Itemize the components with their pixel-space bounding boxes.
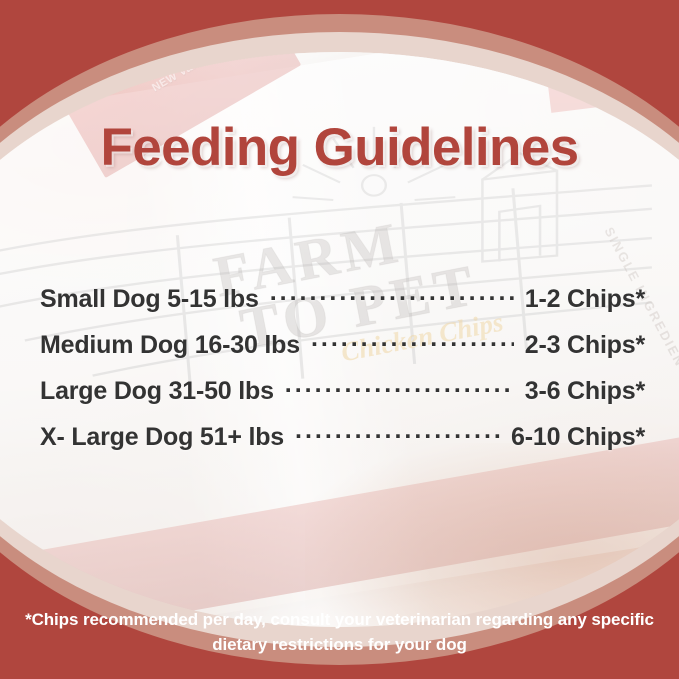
guideline-value: 2-3 Chips*: [525, 331, 645, 360]
guideline-label: Small Dog 5-15 lbs: [40, 285, 259, 314]
guideline-value: 6-10 Chips*: [511, 423, 645, 452]
guideline-value: 3-6 Chips*: [525, 377, 645, 406]
guideline-row-medium: Medium Dog 16-30 lbs 2-3 Chips*: [40, 328, 645, 374]
dot-leader: [295, 420, 500, 445]
guideline-row-large: Large Dog 31-50 lbs 3-6 Chips*: [40, 374, 645, 420]
dot-leader: [285, 374, 514, 399]
dot-leader: [311, 328, 514, 353]
dot-leader: [270, 282, 514, 307]
footer-disclaimer: *Chips recommended per day, consult your…: [17, 608, 663, 657]
feeding-guidelines-list: Small Dog 5-15 lbs 1-2 Chips* Medium Dog…: [40, 282, 645, 466]
guideline-label: Medium Dog 16-30 lbs: [40, 331, 300, 360]
guideline-row-small: Small Dog 5-15 lbs 1-2 Chips*: [40, 282, 645, 328]
guideline-row-xlarge: X- Large Dog 51+ lbs 6-10 Chips*: [40, 420, 645, 466]
guideline-label: X- Large Dog 51+ lbs: [40, 423, 284, 452]
guideline-value: 1-2 Chips*: [525, 285, 645, 314]
feeding-guidelines-poster: NEW Value Bag NEW: [0, 0, 679, 679]
poster-content: Feeding Guidelines Small Dog 5-15 lbs 1-…: [0, 0, 679, 679]
guideline-label: Large Dog 31-50 lbs: [40, 377, 274, 406]
page-title: Feeding Guidelines: [0, 117, 679, 178]
footer-band: *Chips recommended per day, consult your…: [0, 587, 679, 679]
